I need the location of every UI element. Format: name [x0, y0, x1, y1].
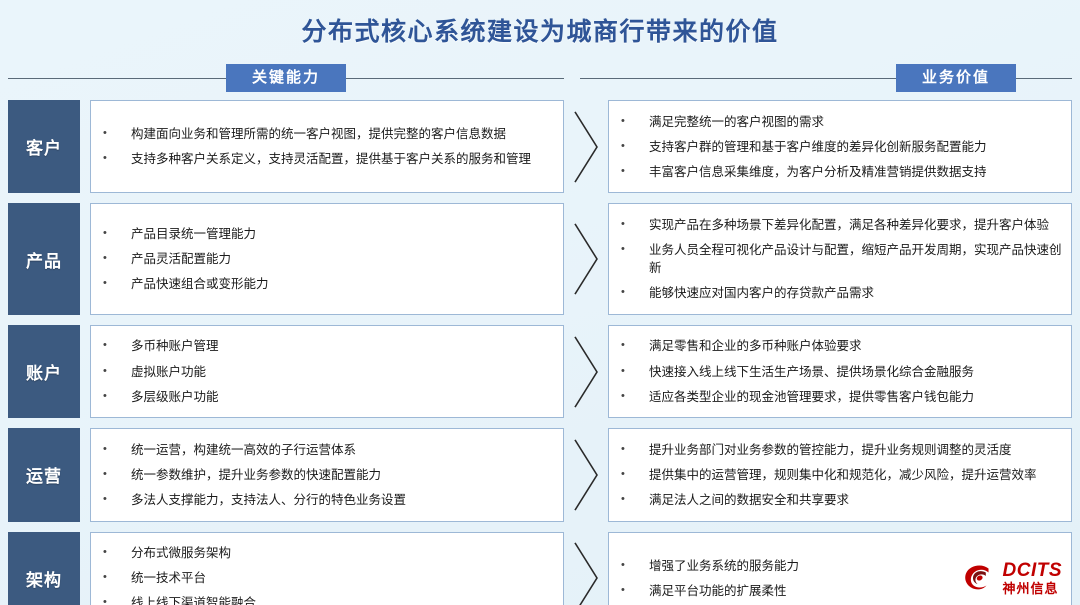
chevron-right-icon [573, 438, 599, 512]
bullet-dot-icon: • [619, 241, 649, 259]
bullet-text: 统一运营，构建统一高效的子行运营体系 [131, 441, 557, 459]
bullet-item: •丰富客户信息采集维度，为客户分析及精准营销提供数据支持 [619, 159, 1065, 184]
header-rule-right-b [1016, 78, 1072, 79]
value-card: •满足完整统一的客户视图的需求•支持客户群的管理和基于客户维度的差异化创新服务配… [608, 100, 1072, 193]
bullet-dot-icon: • [101, 150, 131, 168]
dcits-logo: DCITS 神州信息 [962, 561, 1063, 595]
logo-text-cn: 神州信息 [1003, 582, 1063, 595]
bullet-item: •统一运营，构建统一高效的子行运营体系 [101, 437, 557, 462]
matrix-row: 客户•构建面向业务和管理所需的统一客户视图，提供完整的客户信息数据•支持多种客户… [8, 100, 1072, 193]
page-title: 分布式核心系统建设为城商行带来的价值 [301, 12, 778, 48]
bullet-text: 统一参数维护，提升业务参数的快速配置能力 [131, 466, 557, 484]
matrix-rows: 客户•构建面向业务和管理所需的统一客户视图，提供完整的客户信息数据•支持多种客户… [0, 96, 1080, 605]
bullet-dot-icon: • [101, 363, 131, 381]
row-label-1[interactable]: 产品 [8, 203, 80, 315]
bullet-text: 满足完整统一的客户视图的需求 [649, 113, 1065, 131]
bullet-text: 满足法人之间的数据安全和共享要求 [649, 491, 1065, 509]
bullet-list-values: •实现产品在多种场景下差异化配置，满足各种差异化要求，提升客户体验•业务人员全程… [619, 212, 1065, 306]
bullet-dot-icon: • [101, 225, 131, 243]
bullet-list-values: •满足完整统一的客户视图的需求•支持客户群的管理和基于客户维度的差异化创新服务配… [619, 109, 1065, 184]
bullet-dot-icon: • [101, 466, 131, 484]
bullet-text: 线上线下渠道智能融合 [131, 594, 557, 605]
header-gap [564, 60, 580, 96]
bullet-text: 统一技术平台 [131, 569, 557, 587]
bullet-dot-icon: • [619, 582, 649, 600]
capability-card: •构建面向业务和管理所需的统一客户视图，提供完整的客户信息数据•支持多种客户关系… [90, 100, 564, 193]
bullet-item: •满足法人之间的数据安全和共享要求 [619, 488, 1065, 513]
bullet-text: 提升业务部门对业务参数的管控能力，提升业务规则调整的灵活度 [649, 441, 1065, 459]
bullet-list-capabilities: •产品目录统一管理能力•产品灵活配置能力•产品快速组合或变形能力 [101, 221, 557, 296]
header-rule-middle [346, 78, 564, 79]
bullet-item: •多币种账户管理 [101, 334, 557, 359]
bullet-text: 产品快速组合或变形能力 [131, 275, 557, 293]
value-card: •满足零售和企业的多币种账户体验要求•快速接入线上线下生活生产场景、提供场景化综… [608, 325, 1072, 418]
bullet-item: •产品快速组合或变形能力 [101, 272, 557, 297]
bullet-text: 支持客户群的管理和基于客户维度的差异化创新服务配置能力 [649, 138, 1065, 156]
row-label-4[interactable]: 架构 [8, 532, 80, 605]
bullet-dot-icon: • [101, 544, 131, 562]
bullet-text: 丰富客户信息采集维度，为客户分析及精准营销提供数据支持 [649, 163, 1065, 181]
row-spacer [80, 532, 90, 605]
bullet-item: •产品灵活配置能力 [101, 247, 557, 272]
capability-card: •分布式微服务架构•统一技术平台•线上线下渠道智能融合 [90, 532, 564, 605]
column-headers: 关键能力 业务价值 [0, 60, 1080, 96]
bullet-text: 能够快速应对国内客户的存贷款产品需求 [649, 284, 1065, 302]
capability-card: •统一运营，构建统一高效的子行运营体系•统一参数维护，提升业务参数的快速配置能力… [90, 428, 564, 521]
chevron-right-icon [573, 110, 599, 184]
bullet-text: 满足零售和企业的多币种账户体验要求 [649, 337, 1065, 355]
bullet-text: 构建面向业务和管理所需的统一客户视图，提供完整的客户信息数据 [131, 125, 557, 143]
chevron-connector [564, 428, 608, 521]
matrix-row: 账户•多币种账户管理•虚拟账户功能•多层级账户功能•满足零售和企业的多币种账户体… [8, 325, 1072, 418]
column-header-capabilities: 关键能力 [8, 60, 564, 96]
bullet-list-capabilities: •分布式微服务架构•统一技术平台•线上线下渠道智能融合 [101, 541, 557, 605]
bullet-item: •快速接入线上线下生活生产场景、提供场景化综合金融服务 [619, 359, 1065, 384]
header-rule-left [8, 78, 226, 79]
bullet-item: •提供集中的运营管理，规则集中化和规范化，减少风险，提升运营效率 [619, 462, 1065, 487]
chevron-connector [564, 100, 608, 193]
bullet-dot-icon: • [619, 491, 649, 509]
bullet-item: •构建面向业务和管理所需的统一客户视图，提供完整的客户信息数据 [101, 122, 557, 147]
bullet-dot-icon: • [101, 250, 131, 268]
bullet-item: •提升业务部门对业务参数的管控能力，提升业务规则调整的灵活度 [619, 437, 1065, 462]
bullet-dot-icon: • [619, 337, 649, 355]
bullet-text: 支持多种客户关系定义，支持灵活配置，提供基于客户关系的服务和管理 [131, 150, 557, 168]
logo-wordmark: DCITS 神州信息 [1003, 561, 1063, 595]
bullet-text: 虚拟账户功能 [131, 363, 557, 381]
bullet-item: •线上线下渠道智能融合 [101, 591, 557, 605]
bullet-list-values: •提升业务部门对业务参数的管控能力，提升业务规则调整的灵活度•提供集中的运营管理… [619, 437, 1065, 512]
bullet-item: •支持多种客户关系定义，支持灵活配置，提供基于客户关系的服务和管理 [101, 147, 557, 172]
bullet-item: •满足零售和企业的多币种账户体验要求 [619, 334, 1065, 359]
bullet-item: •统一技术平台 [101, 566, 557, 591]
bullet-dot-icon: • [619, 441, 649, 459]
bullet-item: •分布式微服务架构 [101, 541, 557, 566]
matrix-row: 产品•产品目录统一管理能力•产品灵活配置能力•产品快速组合或变形能力•实现产品在… [8, 203, 1072, 315]
bullet-text: 分布式微服务架构 [131, 544, 557, 562]
row-spacer [80, 428, 90, 521]
row-spacer [80, 203, 90, 315]
row-spacer [80, 325, 90, 418]
bullet-dot-icon: • [101, 569, 131, 587]
bullet-text: 多法人支撑能力，支持法人、分行的特色业务设置 [131, 491, 557, 509]
bullet-text: 产品灵活配置能力 [131, 250, 557, 268]
header-chip-values: 业务价值 [896, 64, 1016, 93]
header-chip-capabilities: 关键能力 [226, 64, 346, 93]
bullet-item: •能够快速应对国内客户的存贷款产品需求 [619, 281, 1065, 306]
bullet-dot-icon: • [619, 138, 649, 156]
bullet-dot-icon: • [101, 275, 131, 293]
bullet-text: 多层级账户功能 [131, 388, 557, 406]
bullet-text: 产品目录统一管理能力 [131, 225, 557, 243]
bullet-dot-icon: • [101, 491, 131, 509]
header-rule-right-a [580, 78, 896, 79]
bullet-item: •业务人员全程可视化产品设计与配置，缩短产品开发周期，实现产品快速创新 [619, 238, 1065, 281]
bullet-list-capabilities: •统一运营，构建统一高效的子行运营体系•统一参数维护，提升业务参数的快速配置能力… [101, 437, 557, 512]
bullet-text: 提供集中的运营管理，规则集中化和规范化，减少风险，提升运营效率 [649, 466, 1065, 484]
bullet-text: 实现产品在多种场景下差异化配置，满足各种差异化要求，提升客户体验 [649, 216, 1065, 234]
bullet-dot-icon: • [619, 557, 649, 575]
bullet-text: 业务人员全程可视化产品设计与配置，缩短产品开发周期，实现产品快速创新 [649, 241, 1065, 277]
slide-title-bar: 分布式核心系统建设为城商行带来的价值 [0, 0, 1080, 60]
bullet-dot-icon: • [619, 216, 649, 234]
bullet-item: •适应各类型企业的现金池管理要求，提供零售客户钱包能力 [619, 384, 1065, 409]
chevron-right-icon [573, 335, 599, 409]
matrix-row: 架构•分布式微服务架构•统一技术平台•线上线下渠道智能融合•增强了业务系统的服务… [8, 532, 1072, 605]
row-label-2[interactable]: 账户 [8, 325, 80, 418]
chevron-right-icon [573, 222, 599, 296]
bullet-text: 快速接入线上线下生活生产场景、提供场景化综合金融服务 [649, 363, 1065, 381]
bullet-item: •支持客户群的管理和基于客户维度的差异化创新服务配置能力 [619, 134, 1065, 159]
bullet-dot-icon: • [101, 337, 131, 355]
bullet-item: •实现产品在多种场景下差异化配置，满足各种差异化要求，提升客户体验 [619, 212, 1065, 237]
column-header-values: 业务价值 [580, 60, 1072, 96]
bullet-dot-icon: • [619, 163, 649, 181]
bullet-item: •产品目录统一管理能力 [101, 221, 557, 246]
bullet-text: 适应各类型企业的现金池管理要求，提供零售客户钱包能力 [649, 388, 1065, 406]
capability-card: •产品目录统一管理能力•产品灵活配置能力•产品快速组合或变形能力 [90, 203, 564, 315]
chevron-connector [564, 203, 608, 315]
capability-card: •多币种账户管理•虚拟账户功能•多层级账户功能 [90, 325, 564, 418]
value-card: •提升业务部门对业务参数的管控能力，提升业务规则调整的灵活度•提供集中的运营管理… [608, 428, 1072, 521]
matrix-row: 运营•统一运营，构建统一高效的子行运营体系•统一参数维护，提升业务参数的快速配置… [8, 428, 1072, 521]
row-label-0[interactable]: 客户 [8, 100, 80, 193]
bullet-item: •多层级账户功能 [101, 384, 557, 409]
bullet-dot-icon: • [619, 388, 649, 406]
bullet-dot-icon: • [619, 466, 649, 484]
bullet-list-capabilities: •构建面向业务和管理所需的统一客户视图，提供完整的客户信息数据•支持多种客户关系… [101, 122, 557, 172]
bullet-list-values: •满足零售和企业的多币种账户体验要求•快速接入线上线下生活生产场景、提供场景化综… [619, 334, 1065, 409]
bullet-item: •虚拟账户功能 [101, 359, 557, 384]
row-label-3[interactable]: 运营 [8, 428, 80, 521]
bullet-text: 多币种账户管理 [131, 337, 557, 355]
bullet-list-capabilities: •多币种账户管理•虚拟账户功能•多层级账户功能 [101, 334, 557, 409]
chevron-connector [564, 532, 608, 605]
logo-text-en: DCITS [1003, 561, 1063, 580]
row-spacer [80, 100, 90, 193]
dcits-swoosh-icon [962, 561, 996, 595]
chevron-connector [564, 325, 608, 418]
bullet-item: •多法人支撑能力，支持法人、分行的特色业务设置 [101, 488, 557, 513]
bullet-item: •满足完整统一的客户视图的需求 [619, 109, 1065, 134]
bullet-dot-icon: • [101, 125, 131, 143]
bullet-dot-icon: • [101, 441, 131, 459]
bullet-dot-icon: • [101, 388, 131, 406]
bullet-dot-icon: • [619, 363, 649, 381]
chevron-right-icon [573, 541, 599, 605]
bullet-item: •统一参数维护，提升业务参数的快速配置能力 [101, 462, 557, 487]
bullet-dot-icon: • [101, 594, 131, 605]
bullet-dot-icon: • [619, 284, 649, 302]
value-card: •实现产品在多种场景下差异化配置，满足各种差异化要求，提升客户体验•业务人员全程… [608, 203, 1072, 315]
bullet-dot-icon: • [619, 113, 649, 131]
